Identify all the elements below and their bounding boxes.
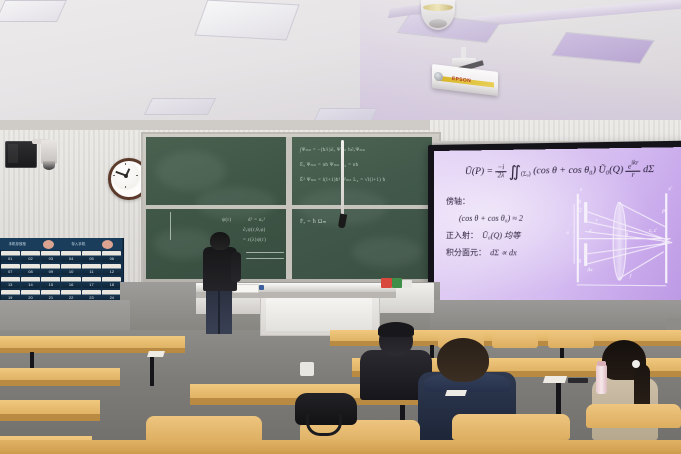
desk-row-far-left-2 [0,368,120,380]
rack-slot-number: 15 [49,282,53,288]
chair-back[interactable] [548,332,594,348]
rack-slot-number: 13 [8,282,12,288]
focal-dimension-line [577,284,666,286]
desk-item [259,285,264,290]
diagram-label-x: x [580,188,582,193]
rack-slot[interactable]: 09 [41,264,60,275]
formula-exp-fraction: eikr r [626,160,641,180]
rack-slot[interactable]: 16 [61,277,80,288]
rack-slot[interactable]: 15 [41,277,60,288]
rack-header-right: 存入手机 [71,242,85,247]
rack-badge-icon [102,240,113,249]
rack-header: 手机存放柜 存入手机 [0,238,122,250]
slide-body-lines: 傍轴： (cos θ + cos θ₀) ≈ 2 正入射：Ũ₀(Q) 均等 积… [446,192,568,262]
paper-sheet [147,351,165,357]
diagram-label-x-prime: x' [668,187,672,192]
ceiling-fan-cap [429,19,447,28]
ceiling-fan-ring [423,4,453,11]
backpack-strap [306,415,342,436]
diagram-label-f: f [630,275,631,280]
desk-row-left-3 [0,400,100,414]
dimension-line [574,204,575,264]
rack-slot[interactable]: 11 [82,264,101,275]
diagram-label-A: A [578,200,581,205]
rack-slot-number: 16 [69,282,73,288]
rack-slot-number: 08 [28,269,32,275]
blackboard-rail [292,205,432,209]
rack-slot-number: 06 [110,256,114,262]
desk-row-far-left [0,336,185,348]
rack-slot-number: 05 [89,256,93,262]
rack-slot[interactable]: 07 [1,264,20,275]
ceiling-light-panel [144,98,216,115]
rack-slot-number: 11 [89,269,93,275]
chalk-line: Ḟₑ = ħ Ωₘ [300,218,327,225]
diagram-label-r: r [596,219,598,224]
formula-tail: dΣ [643,165,654,176]
formula-u0-term: Ũ₀(Q) [598,165,623,176]
rack-slot-number: 09 [49,269,53,275]
desk-row-front [0,440,681,454]
rack-slot[interactable]: 17 [82,277,101,288]
rack-slot-number: 01 [8,256,12,262]
ceiling-light-panel [0,0,67,22]
diagram-label-a: a [566,231,569,236]
rack-slot-number: 04 [69,256,73,262]
pointer-stick[interactable] [341,140,344,218]
rack-slot[interactable]: 03 [41,251,60,262]
formula-fraction: −i 2λ [495,164,506,180]
slide-line-paraxial: 傍轴： [446,192,568,210]
rack-slot[interactable]: 18 [102,277,121,288]
projector-lens-icon [434,71,443,81]
hair-tie-icon [632,360,640,368]
diagram-label-x-small: x [589,229,591,234]
rack-slot[interactable]: 13 [1,277,20,288]
double-integral-icon: ∬ [509,164,521,180]
rack-slot[interactable]: 12 [102,264,121,275]
rack-slot-number: 18 [110,282,114,288]
diagram-label-z: z, z' [649,229,657,234]
chair-back[interactable] [452,414,570,440]
desk-edge [0,380,120,386]
rack-slot[interactable]: 10 [61,264,80,275]
lecturer-arm [231,252,241,282]
desk-item [381,278,392,288]
rack-slot-number: 10 [69,269,73,275]
slide-formula: Ũ(P) = −i 2λ ∬(Σ₀) (cos θ + cos θ₀) Ũ₀… [442,160,679,183]
rack-row: 070809101112 [0,263,122,276]
wall-trim [0,120,430,130]
chair-back[interactable] [492,332,538,348]
diagram-label-theta: θ [625,233,628,238]
rack-row: 010203040506 [0,250,122,263]
slide-line-cos-approx: (cos θ + cos θ₀) ≈ 2 [446,209,568,227]
thermos-bottle[interactable] [596,364,607,394]
diagram-label-Q: Q [578,208,582,213]
chalk-line: ψ(r) [222,218,231,223]
rack-header-left: 手机存放柜 [9,242,27,247]
desk-item [392,278,402,288]
diagram-label-Pe: Pₑ [662,210,667,215]
rack-slot-number: 03 [49,256,53,262]
desk-edge [0,414,100,421]
slide-line-area-element: 积分面元：dΣ ∝ dx [446,244,568,262]
lens-icon [613,202,627,281]
rack-slot-number: 17 [89,282,93,288]
fraction-denominator: 2λ [495,172,506,180]
integral-subscript: (Σ₀) [521,171,531,177]
blackboard-rail [146,205,286,209]
chalk-line: ∫Ψₘₙ = −(ħ/i)∂ᵥ Ψₘₙ ħ∂ᵥΨₘₙ [300,147,365,153]
blackboard-divider [286,137,292,279]
lecturer-leg-gap [218,290,220,334]
camera-dome-icon [43,161,55,170]
clock-center-pin [124,174,128,178]
rack-slot[interactable]: 14 [21,277,40,288]
chair-back[interactable] [586,404,681,428]
rack-slot[interactable]: 02 [21,251,40,262]
rack-slot[interactable]: 08 [21,264,40,275]
projection-screen: Ũ(P) = −i 2λ ∬(Σ₀) (cos θ + cos θ₀) Ũ₀… [434,147,681,318]
chair-back[interactable] [146,416,262,442]
rack-slot-number: 12 [110,269,114,275]
diagram-label-P0: P₀ [662,241,667,246]
lecturer-head [210,232,230,250]
paper-sheet [543,376,567,383]
rack-badge-icon [43,240,54,249]
optics-ray-diagram: x x' A Q B P₀ Pₑ a f z, z' Δx r θ x [564,189,677,288]
chalk-line: d² = αᵥ² [248,218,265,223]
rack-slot-number: 07 [8,269,12,275]
rack-slot[interactable]: 01 [1,251,20,262]
formula-cos-term: (cos θ + cos θ₀) [533,166,596,177]
rack-slot[interactable]: 06 [102,251,121,262]
desk-leg [150,352,154,386]
chalk-line: ∂ₓψ(r,θ,φ) [243,228,266,233]
student-hoodie-head [437,338,489,382]
diagram-label-dx: Δx [587,268,592,273]
phone[interactable] [568,378,588,383]
diagram-label-B: B [578,260,581,265]
student-cap-hat [378,322,414,337]
desk-item [402,280,412,288]
exp-denominator: r [626,172,641,180]
rack-slot-number: 14 [28,282,32,288]
chalk-line: Ēₓ Ψₘₙ = nħ Ψₘₙ ω₀ = nħ [300,162,358,168]
cup[interactable] [300,362,314,376]
slide-line-normal-incidence: 正入射：Ũ₀(Q) 均等 [446,227,568,244]
classroom-photo: EPSON 手机存放柜 存入手机 01020304050607080910111… [0,0,681,454]
formula-lhs: Ũ(P) = [465,167,493,177]
rack-slot-number: 02 [28,256,32,262]
paper-sheet [445,390,467,396]
rack-slot[interactable]: 04 [61,251,80,262]
thermos-cap [597,361,606,366]
chalk-line: = ε(λ)ψ(r) [243,238,266,243]
ceiling-light-panel [194,0,299,40]
desk-leg [556,377,561,417]
rack-row: 131415161718 [0,276,122,289]
podium-front-panel [266,295,372,331]
speaker-highlight [8,144,18,163]
rack-slot[interactable]: 05 [82,251,101,262]
